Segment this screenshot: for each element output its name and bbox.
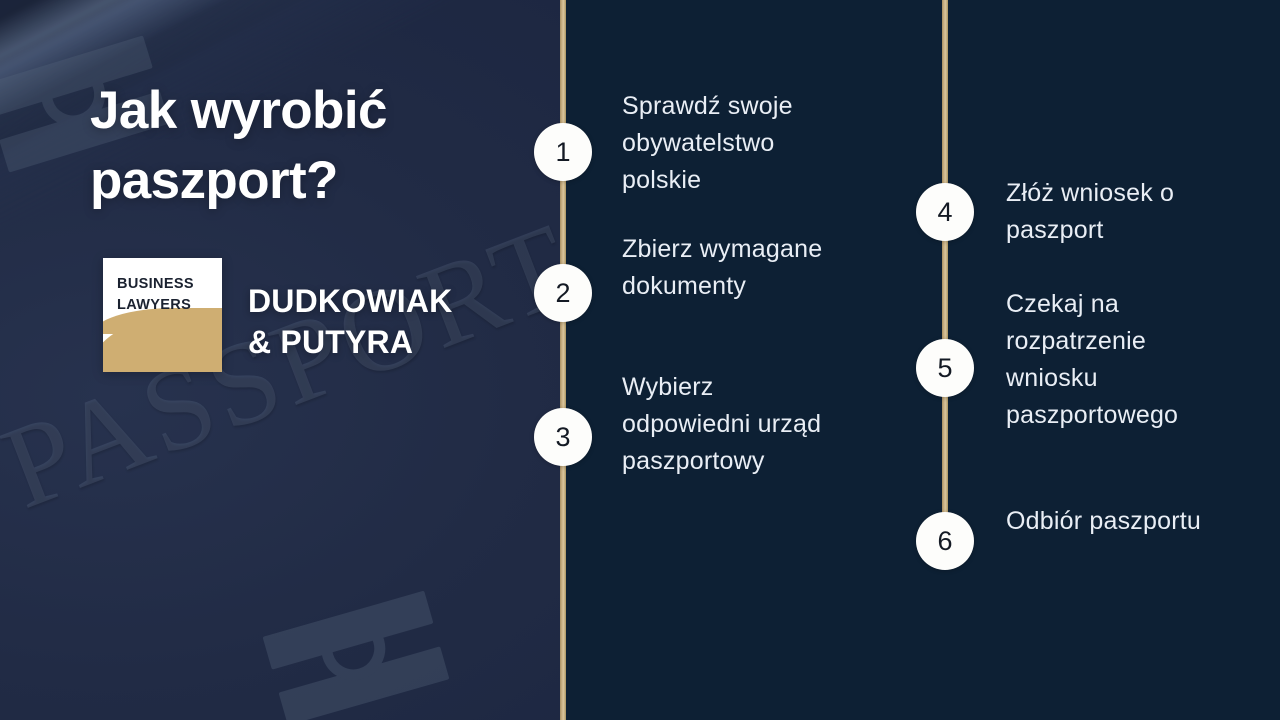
timeline-rail-column-2 <box>942 0 948 545</box>
biometric-chip-icon <box>263 591 450 720</box>
step-text-6: Odbiór paszportu <box>1006 503 1236 540</box>
timeline-rail-column-1 <box>560 0 566 720</box>
logo-wordmark: BUSINESS LAWYERS <box>117 274 194 315</box>
logo-wordmark-line-1: BUSINESS <box>117 274 194 295</box>
step-text-1: Sprawdź swoje obywatelstwo polskie <box>622 88 852 199</box>
infographic-slide: PASSPORT Jak wyrobić paszport? BUSINESS … <box>0 0 1280 720</box>
step-number-6: 6 <box>916 512 974 570</box>
step-number-1: 1 <box>534 123 592 181</box>
step-text-5: Czekaj na rozpatrzenie wniosku paszporto… <box>1006 286 1238 434</box>
brand-logo: BUSINESS LAWYERS <box>103 258 222 372</box>
firm-name-line-2: & PUTYRA <box>248 322 452 363</box>
firm-name: DUDKOWIAK & PUTYRA <box>248 281 452 363</box>
step-text-3: Wybierz odpowiedni urząd paszportowy <box>622 369 827 480</box>
logo-wordmark-line-2: LAWYERS <box>117 295 194 316</box>
title-line-1: Jak wyrobić <box>90 76 520 146</box>
logo-badge: BUSINESS LAWYERS <box>103 258 222 372</box>
logo-gold-wave <box>103 310 222 372</box>
step-number-2: 2 <box>534 264 592 322</box>
passport-watermark-text: PASSPORT <box>0 195 563 536</box>
step-number-3: 3 <box>534 408 592 466</box>
title-line-2: paszport? <box>90 146 520 216</box>
step-text-4: Złóż wniosek o paszport <box>1006 175 1236 249</box>
step-number-5: 5 <box>916 339 974 397</box>
page-title: Jak wyrobić paszport? <box>90 76 520 217</box>
firm-name-line-1: DUDKOWIAK <box>248 281 452 322</box>
step-text-2: Zbierz wymagane dokumenty <box>622 231 852 305</box>
step-number-4: 4 <box>916 183 974 241</box>
